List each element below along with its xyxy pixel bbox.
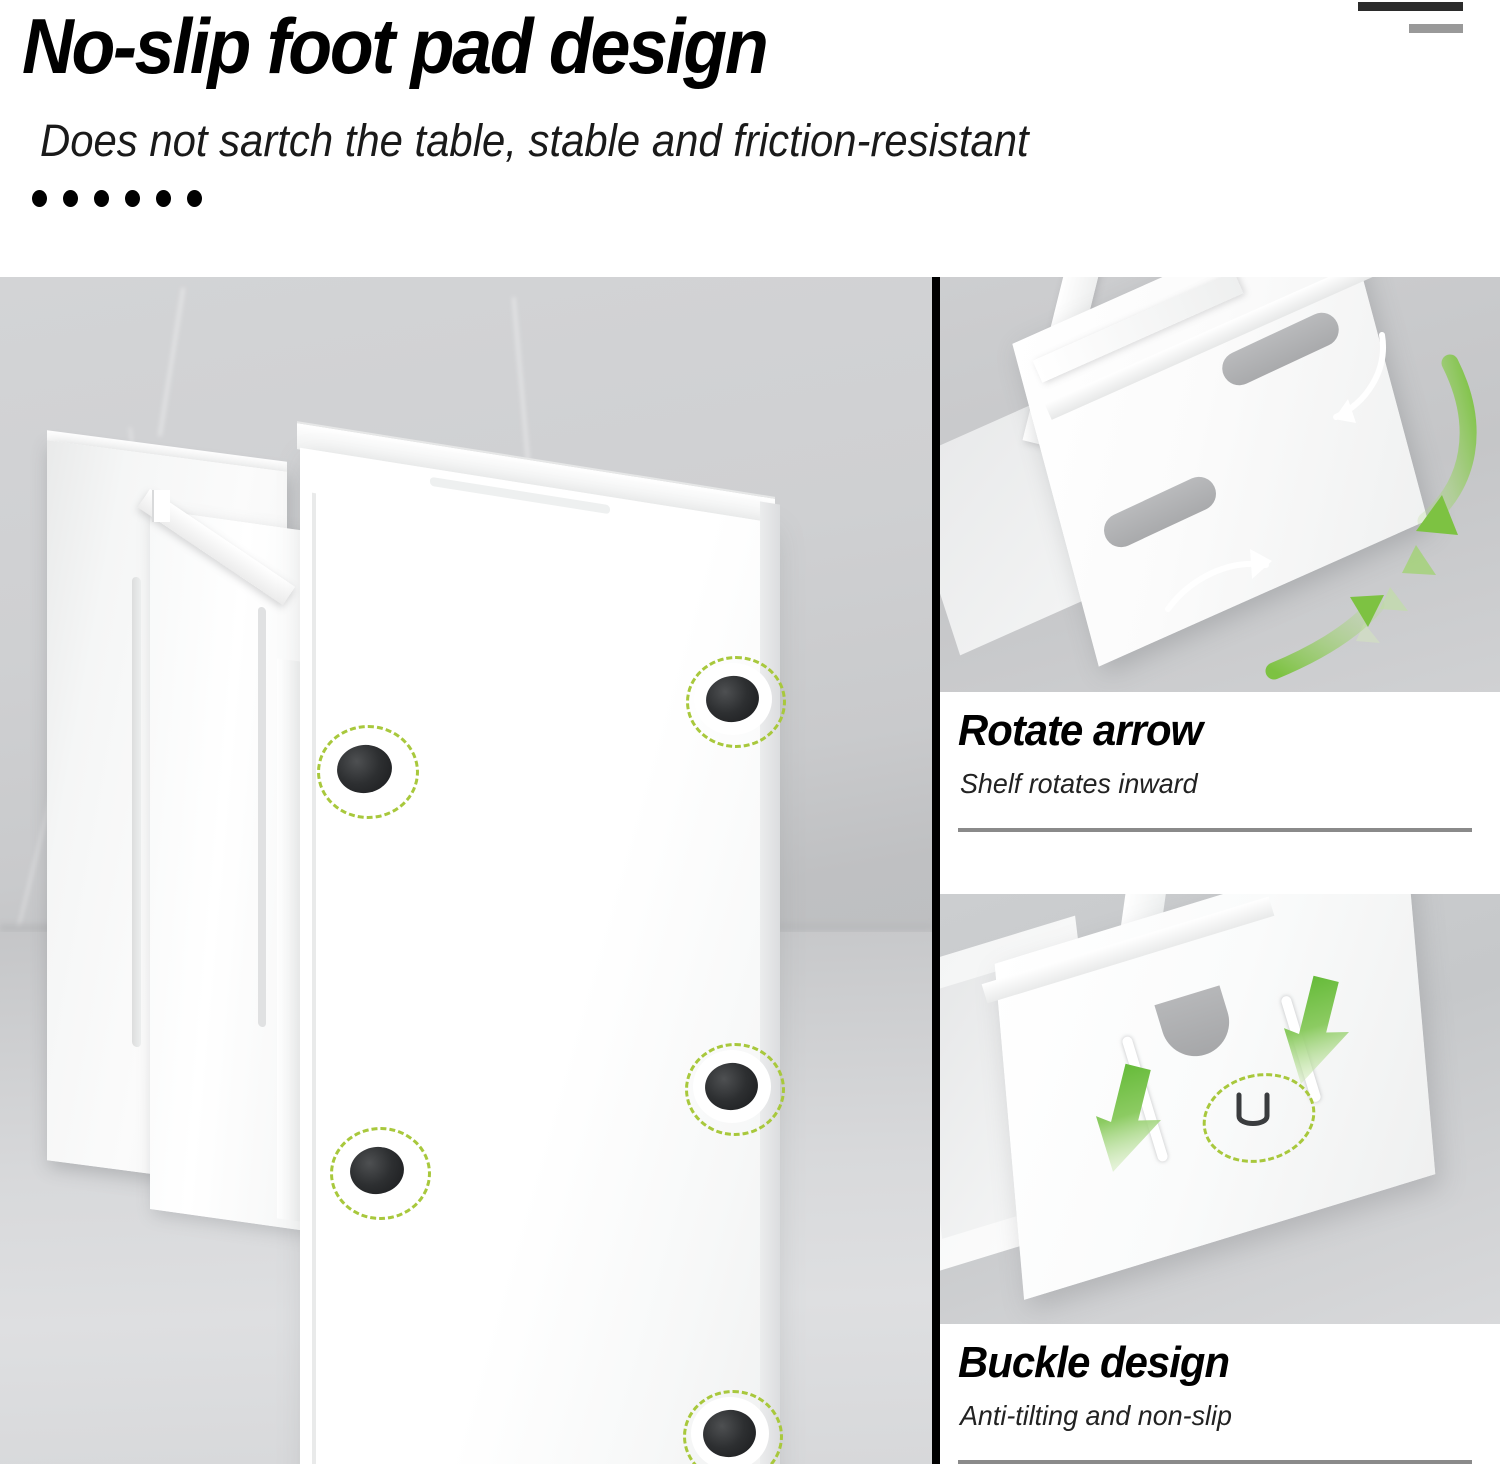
main-panel-face <box>300 448 770 1464</box>
photo-foot-pads <box>0 277 932 1464</box>
accent-bar-gray <box>1409 24 1463 33</box>
main-panel-seam <box>312 493 316 1464</box>
main-panel-right-edge <box>760 501 780 1464</box>
photo-buckle-design <box>940 894 1500 1324</box>
decorative-dots <box>32 190 202 207</box>
photo-grid: Rotate arrow Shelf rotates inward <box>0 277 1500 1464</box>
dot-icon <box>125 190 140 207</box>
caption-rule <box>958 1460 1472 1464</box>
photo-rotate-arrow <box>940 277 1500 692</box>
caption-rotate: Rotate arrow Shelf rotates inward <box>940 692 1500 894</box>
dot-icon <box>63 190 78 207</box>
header: No-slip foot pad design Does not sartch … <box>0 0 1500 277</box>
caption-buckle: Buckle design Anti-tilting and non-slip <box>940 1324 1500 1464</box>
middle-board-slot <box>258 606 266 1027</box>
corner-accent-bars <box>1323 0 1463 40</box>
wall-vein <box>158 288 184 437</box>
caption-rule <box>958 828 1472 832</box>
caption-title: Rotate arrow <box>958 706 1202 756</box>
product-infographic-page: No-slip foot pad design Does not sartch … <box>0 0 1500 1464</box>
back-board-slot <box>132 576 141 1047</box>
highlight-ring <box>686 656 786 748</box>
dot-icon <box>32 190 47 207</box>
green-down-arrow-icon <box>1278 974 1368 1104</box>
vertical-rail <box>277 658 301 1221</box>
dot-icon <box>94 190 109 207</box>
wall-vein <box>512 297 531 477</box>
highlight-ring <box>330 1127 431 1220</box>
green-down-arrow-icon <box>1090 1062 1180 1192</box>
highlight-ring <box>317 725 419 819</box>
highlight-ring <box>685 1043 785 1136</box>
right-column: Rotate arrow Shelf rotates inward <box>940 277 1500 1464</box>
strut-hook <box>152 490 170 522</box>
dot-icon <box>156 190 171 207</box>
page-subtitle: Does not sartch the table, stable and fr… <box>40 112 1029 170</box>
vertical-divider <box>932 277 940 1464</box>
page-title: No-slip foot pad design <box>22 0 766 94</box>
caption-title: Buckle design <box>958 1338 1229 1388</box>
accent-bar-dark <box>1358 2 1463 11</box>
green-rotation-arrows-icon <box>1230 335 1500 692</box>
caption-subtitle: Shelf rotates inward <box>960 768 1198 800</box>
caption-subtitle: Anti-tilting and non-slip <box>960 1400 1232 1432</box>
dot-icon <box>187 190 202 207</box>
